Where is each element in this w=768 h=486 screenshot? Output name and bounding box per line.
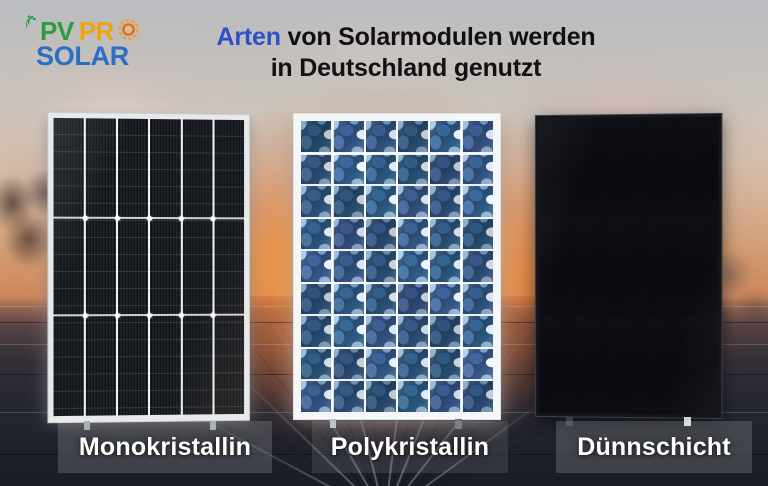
thinfilm-cell xyxy=(539,217,574,315)
poly-busbar-node xyxy=(363,217,367,221)
poly-cell xyxy=(398,251,428,282)
thinfilm-cell xyxy=(539,316,574,414)
poly-cell xyxy=(366,349,396,380)
label-strip-duennschicht: Dünnschicht xyxy=(556,421,752,473)
brand-logo[interactable]: PVPR SOLAR xyxy=(22,14,152,76)
mono-busbar-node xyxy=(147,313,152,318)
thinfilm-cell xyxy=(647,117,682,216)
thinfilm-cell xyxy=(610,316,645,414)
thinfilm-cell xyxy=(610,118,645,216)
poly-cell xyxy=(463,349,493,380)
mono-cell-column xyxy=(54,118,84,416)
mono-busbar-node xyxy=(147,216,152,221)
label-strip-monokristallin: Monokristallin xyxy=(58,421,272,473)
poly-cell xyxy=(398,284,428,315)
poly-cell xyxy=(366,251,396,282)
mono-busbar-node xyxy=(179,216,184,221)
poly-cell xyxy=(301,186,331,217)
poly-cell xyxy=(398,349,428,380)
poly-cell xyxy=(333,154,363,185)
poly-cell-divider xyxy=(396,121,398,412)
poly-cell xyxy=(463,154,493,185)
thinfilm-cell xyxy=(683,316,719,415)
poly-busbar-node xyxy=(395,346,399,350)
logo-text-solar: SOLAR xyxy=(36,43,129,70)
poly-cell xyxy=(366,316,396,347)
poly-cell xyxy=(398,219,428,250)
poly-cell xyxy=(463,316,493,347)
poly-cell xyxy=(430,154,460,185)
poly-cell xyxy=(301,284,331,315)
poly-cell xyxy=(430,284,460,315)
poly-busbar-node xyxy=(395,217,399,221)
poly-cell xyxy=(430,186,460,217)
poly-busbar-node xyxy=(459,346,463,350)
poly-cell xyxy=(463,251,493,282)
poly-busbar-node xyxy=(459,217,463,221)
poly-cell xyxy=(430,219,460,250)
poly-busbar-node xyxy=(427,346,431,350)
poly-cell xyxy=(333,186,363,217)
poly-cell xyxy=(333,349,363,380)
poly-cell xyxy=(301,251,331,282)
poly-busbar-node xyxy=(363,346,367,350)
thinfilm-cell xyxy=(683,117,719,216)
poly-cell xyxy=(430,349,460,380)
poly-cell xyxy=(463,284,493,315)
title-rest-line1: von Solarmodulen werden xyxy=(281,23,596,51)
poly-cell xyxy=(463,219,493,250)
mono-busbar-node xyxy=(115,216,120,221)
thinfilm-cell xyxy=(610,217,645,315)
poly-cell xyxy=(463,186,493,217)
poly-cell xyxy=(333,121,363,152)
title-line2: in Deutschland genutzt xyxy=(271,54,542,82)
poly-cell xyxy=(301,219,331,250)
mono-cell-column xyxy=(118,119,148,416)
poly-cell xyxy=(366,284,396,315)
poly-busbar-node xyxy=(331,346,335,350)
poly-cell-grid xyxy=(301,121,493,412)
mono-busbar-node xyxy=(210,216,215,221)
poly-cell xyxy=(366,186,396,217)
poly-busbar-node xyxy=(331,217,335,221)
poly-cell xyxy=(333,381,363,412)
thinfilm-cell xyxy=(575,316,610,414)
thinfilm-cell-grid xyxy=(539,117,719,415)
poly-cell xyxy=(398,381,428,412)
poly-cell xyxy=(366,381,396,412)
panel-polykristallin[interactable] xyxy=(293,113,501,420)
poly-cell xyxy=(398,121,428,152)
poly-cell xyxy=(463,121,493,152)
poly-cell xyxy=(398,154,428,185)
label-strip-polykristallin: Polykristallin xyxy=(312,421,508,473)
poly-cell xyxy=(301,381,331,412)
thinfilm-cell xyxy=(647,316,682,415)
thinfilm-cell xyxy=(575,118,610,216)
mono-busbar-node xyxy=(115,313,120,318)
poly-cell xyxy=(366,154,396,185)
infographic-canvas: PVPR SOLAR Arten von Solarmodulen werden… xyxy=(0,0,768,486)
mono-busbar-node xyxy=(179,313,184,318)
panel-duennschicht[interactable] xyxy=(535,113,723,419)
poly-cell xyxy=(398,316,428,347)
mono-busbar-node xyxy=(210,313,215,318)
panel-label-monokristallin: Monokristallin xyxy=(79,433,251,462)
poly-cell xyxy=(366,219,396,250)
poly-cell xyxy=(430,251,460,282)
panel-label-polykristallin: Polykristallin xyxy=(331,433,489,462)
mono-cell-column xyxy=(86,118,116,415)
poly-cell xyxy=(301,121,331,152)
poly-cell xyxy=(333,219,363,250)
page-title: Arten von Solarmodulen werden in Deutsch… xyxy=(176,22,636,84)
poly-cell xyxy=(333,284,363,315)
poly-cell xyxy=(366,121,396,152)
panel-monokristallin[interactable] xyxy=(47,112,250,423)
mono-cell-grid xyxy=(54,118,245,416)
poly-cell xyxy=(430,381,460,412)
poly-cell xyxy=(301,349,331,380)
poly-cell-divider xyxy=(428,121,430,412)
mono-cell-column xyxy=(214,120,244,415)
title-highlight: Arten xyxy=(217,23,281,51)
poly-cell xyxy=(301,316,331,347)
mono-cell-column xyxy=(150,119,180,415)
poly-cell xyxy=(333,251,363,282)
panel-label-duennschicht: Dünnschicht xyxy=(577,433,731,462)
poly-cell xyxy=(301,154,331,185)
poly-busbar-node xyxy=(427,217,431,221)
poly-cell xyxy=(430,316,460,347)
mono-cell-column xyxy=(182,119,212,414)
thinfilm-cell xyxy=(539,119,574,217)
poly-cell-divider xyxy=(460,121,462,412)
poly-cell xyxy=(463,381,493,412)
poly-cell xyxy=(333,316,363,347)
thinfilm-cell xyxy=(683,217,719,316)
poly-cell xyxy=(398,186,428,217)
thinfilm-cell xyxy=(647,217,682,315)
poly-cell xyxy=(430,121,460,152)
thinfilm-cell xyxy=(575,217,610,315)
poly-cell-divider xyxy=(332,121,334,412)
sun-gear-icon xyxy=(118,19,139,40)
poly-cell-divider xyxy=(364,121,366,412)
